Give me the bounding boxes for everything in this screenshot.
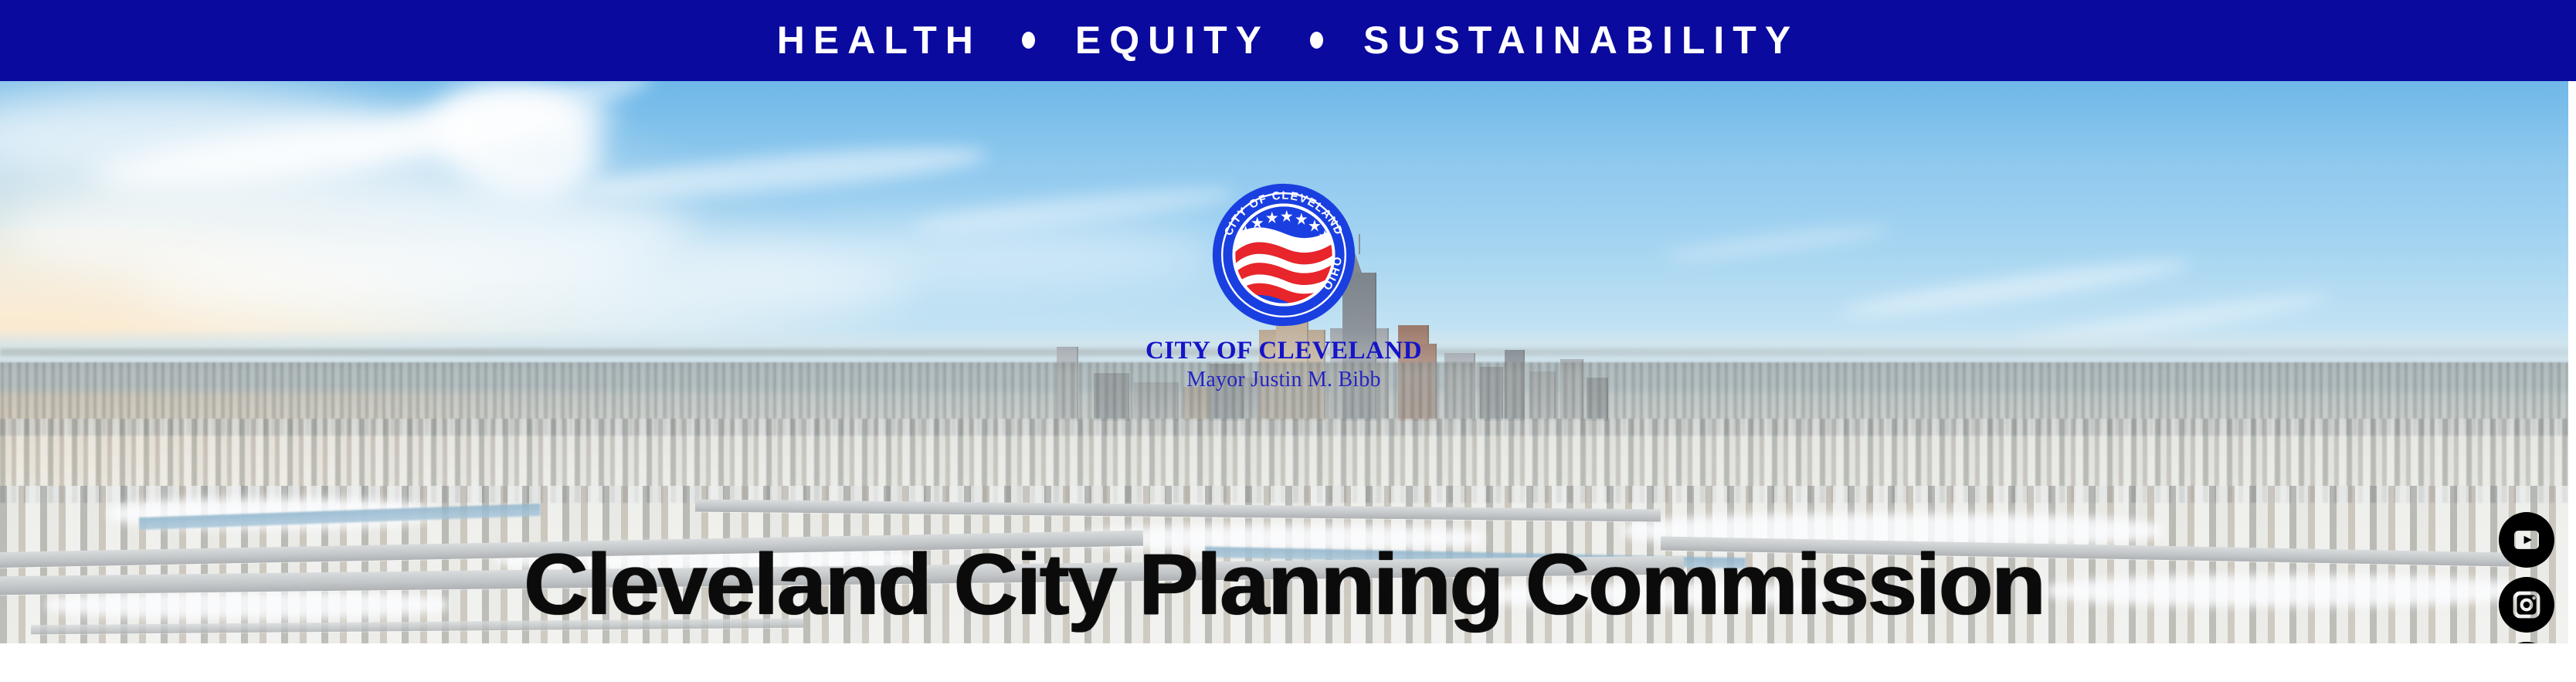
seal-title: CITY OF CLEVELAND (1083, 338, 1485, 365)
social-links (2499, 512, 2554, 643)
banner-separator-dot-1 (1022, 32, 1035, 49)
bottom-margin-fill (0, 643, 2576, 682)
values-banner: HEALTH EQUITY SUSTAINABILITY (0, 0, 2576, 81)
banner-word-health: HEALTH (777, 21, 982, 59)
social-link-instagram[interactable] (2499, 577, 2554, 633)
instagram-icon[interactable] (2499, 577, 2554, 633)
social-link-youtube[interactable] (2499, 512, 2554, 568)
city-of-cleveland-seal-icon: CITY OF CLEVELAND OHIO (1210, 182, 1357, 328)
page-root: HEALTH EQUITY SUSTAINABILITY (0, 0, 2576, 682)
right-margin-fill (2568, 81, 2576, 643)
seal-subtitle: Mayor Justin M. Bibb (1083, 368, 1485, 392)
city-seal-lockup: CITY OF CLEVELAND OHIO CITY OF CLEVELAND… (1083, 182, 1485, 392)
banner-separator-dot-2 (1310, 32, 1323, 49)
banner-word-sustainability: SUSTAINABILITY (1363, 21, 1799, 59)
youtube-icon[interactable] (2499, 512, 2554, 568)
hero-photo: CITY OF CLEVELAND OHIO CITY OF CLEVELAND… (0, 81, 2568, 643)
page-title: Cleveland City Planning Commission (0, 541, 2568, 628)
banner-word-equity: EQUITY (1075, 21, 1270, 59)
values-banner-inner: HEALTH EQUITY SUSTAINABILITY (777, 21, 1799, 59)
